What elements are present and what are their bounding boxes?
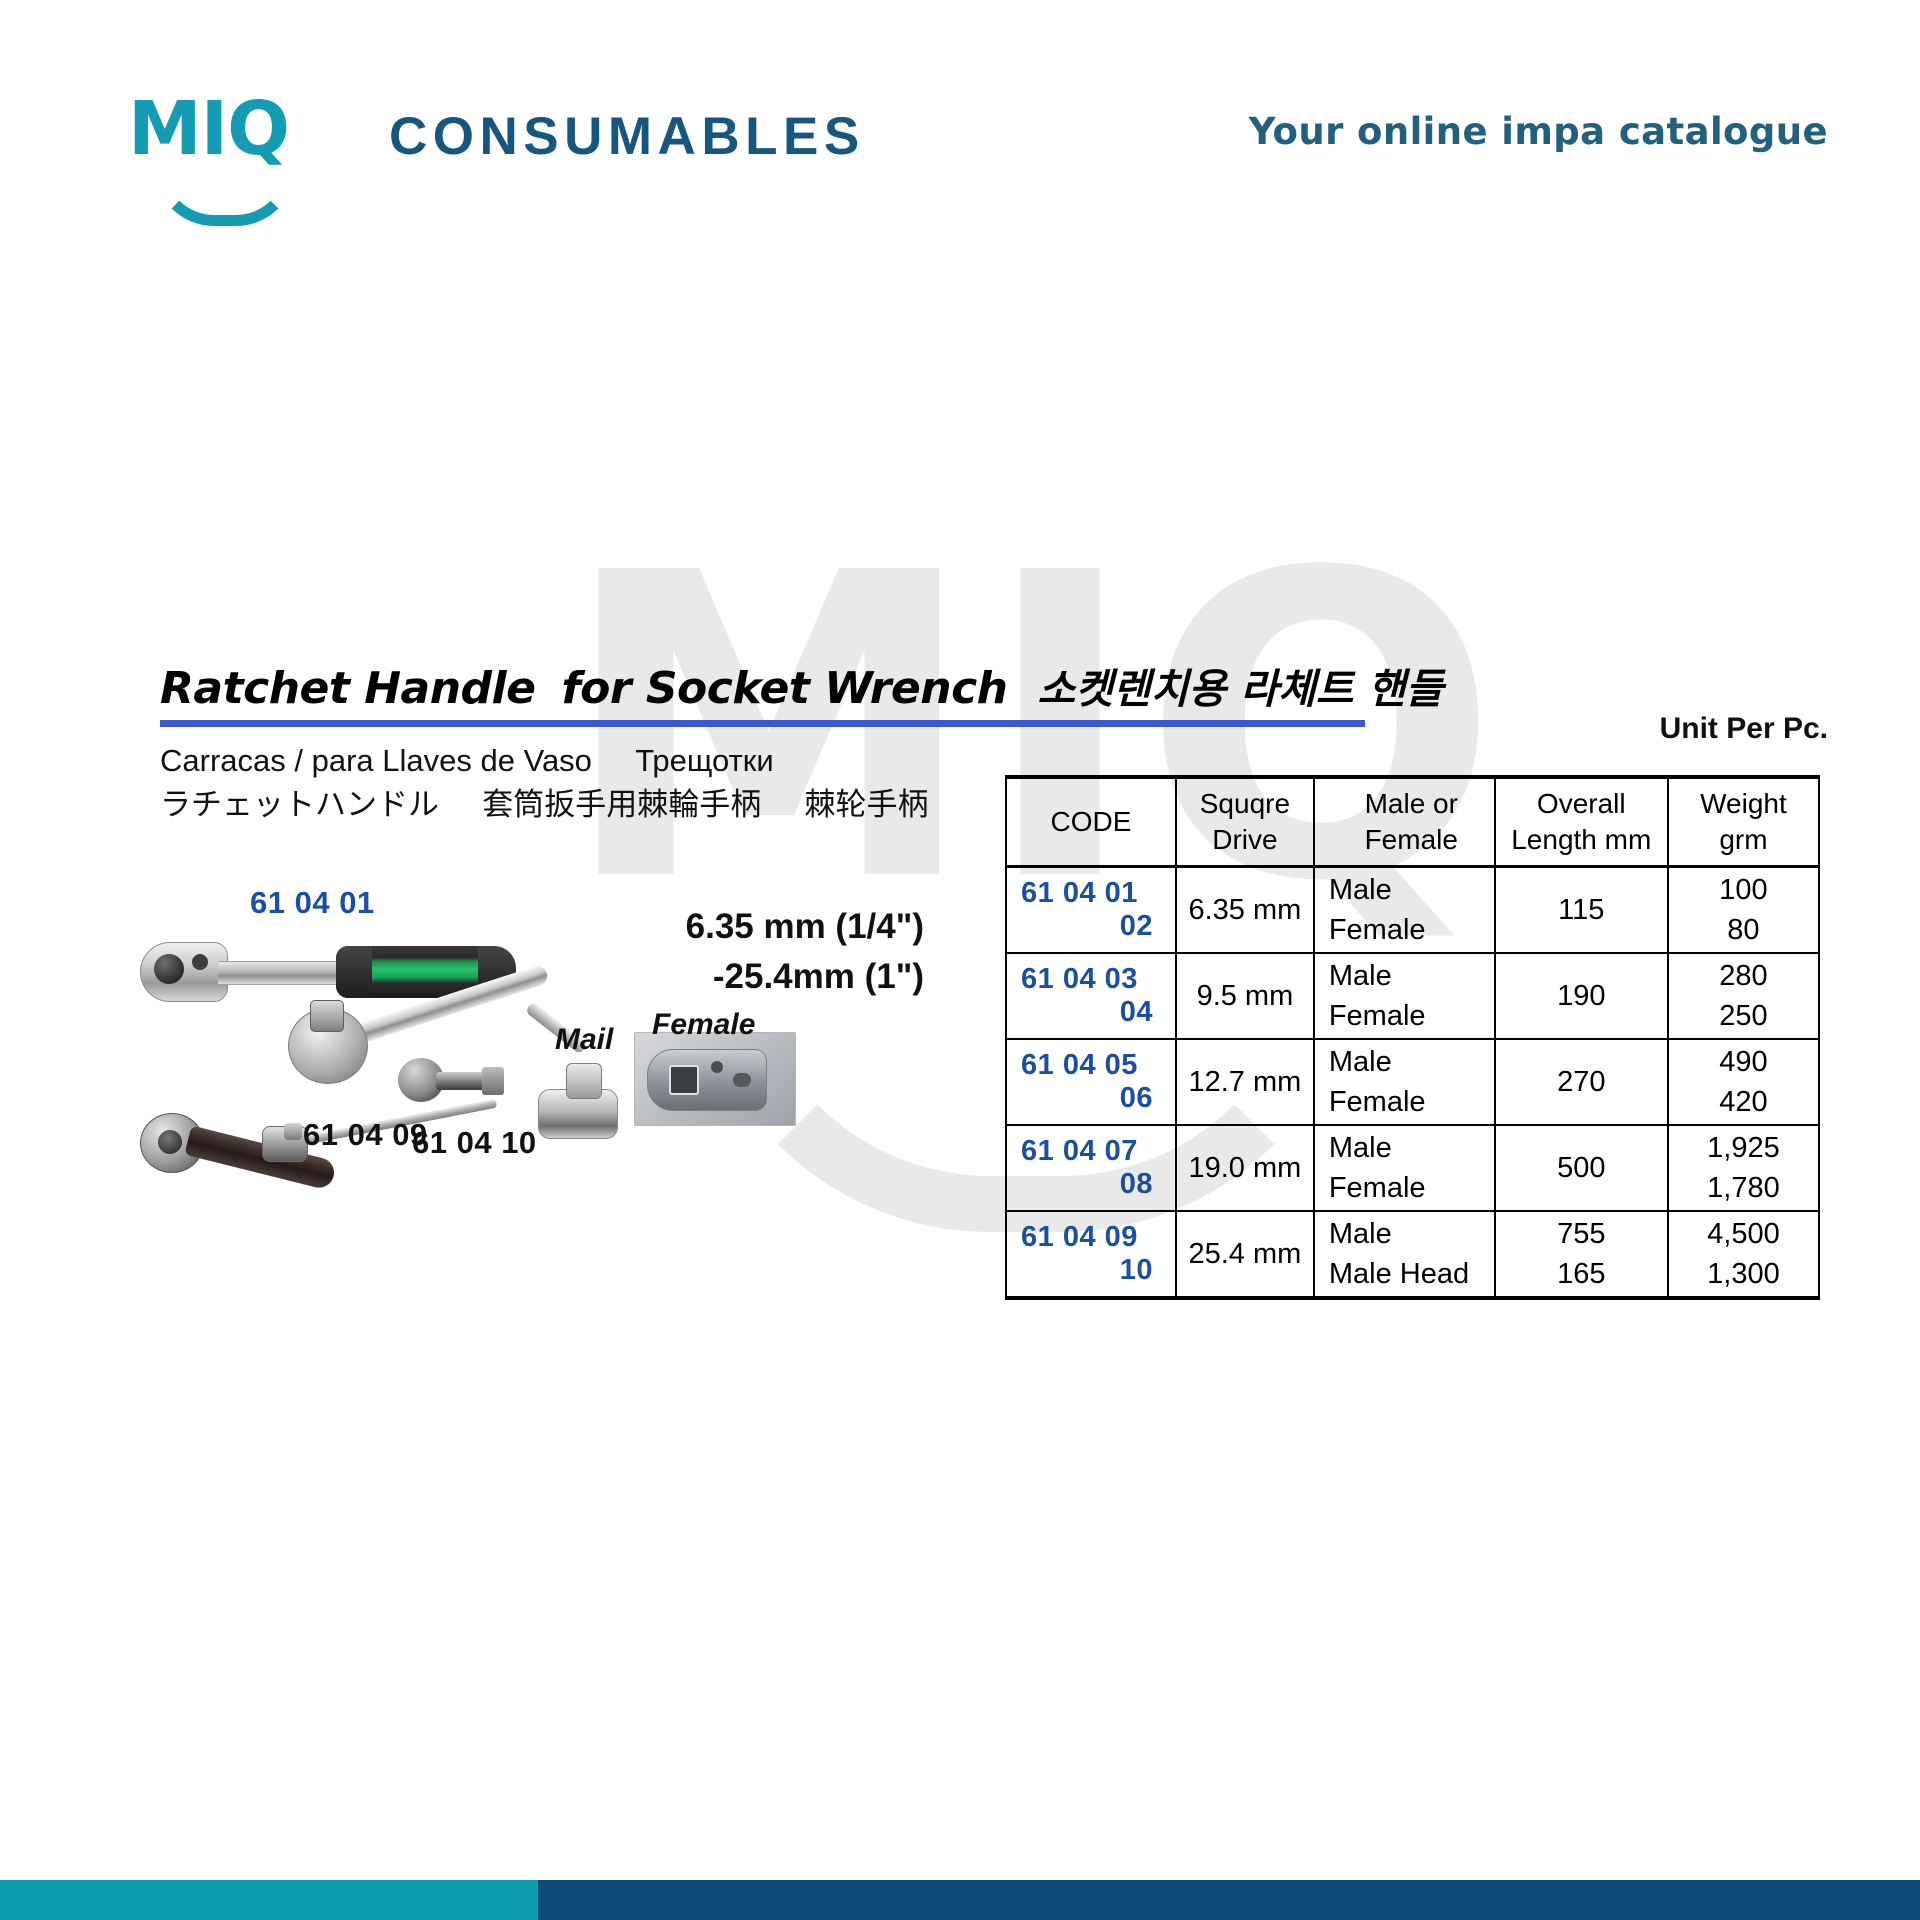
female-hole-1-shape: [711, 1061, 723, 1073]
cell-overall-length: 270: [1495, 1039, 1668, 1125]
cell-code-top: 61 04 03: [1007, 963, 1175, 996]
table-row: 61 04 05 06 12.7 mm Male Female 270: [1006, 1039, 1819, 1125]
male-square-drive-shape: [566, 1063, 602, 1099]
cell-weight-bottom: 1,780: [1669, 1168, 1818, 1208]
cell-male-or-female: Male Female: [1314, 1039, 1495, 1125]
cell-code-bottom: 10: [1007, 1254, 1175, 1287]
cell-code: 61 04 03 04: [1006, 953, 1176, 1039]
cell-overall-length: 500: [1495, 1125, 1668, 1211]
cell-square-drive: 19.0 mm: [1176, 1125, 1314, 1211]
cell-square-drive: 12.7 mm: [1176, 1039, 1314, 1125]
title-korean: 소켓렌치용 라체트 핸들: [1037, 655, 1443, 715]
female-hole-2-shape: [733, 1073, 751, 1087]
figure-label-female: Female: [652, 1008, 755, 1042]
cell-mf-bottom: Female: [1329, 996, 1494, 1036]
ratchet-shaft-shape: [218, 961, 346, 985]
cell-weight-bottom: 250: [1669, 996, 1818, 1036]
translation-chinese-simp: 棘轮手柄: [805, 787, 929, 822]
cell-mf-top: Male: [1329, 1128, 1494, 1168]
header-code: CODE: [1006, 777, 1176, 867]
title-english-secondary: for Socket Wrench: [561, 663, 1007, 714]
cell-mf-top: Male: [1329, 870, 1494, 910]
adapter-tip-shape: [482, 1067, 504, 1095]
header-square-drive: Squqre Drive: [1176, 777, 1314, 867]
header-square-drive-line1: Squqre: [1177, 786, 1313, 822]
figure-label-male: Mail: [555, 1023, 613, 1057]
joint-nub-shape: [284, 1123, 302, 1140]
cell-code-top: 61 04 07: [1007, 1135, 1175, 1168]
figure-code-610410: 61 04 10: [412, 1125, 537, 1161]
cell-male-or-female: Male Male Head: [1314, 1211, 1495, 1298]
cell-overall-length: 115: [1495, 867, 1668, 954]
cell-code: 61 04 09 10: [1006, 1211, 1176, 1298]
header-weight-line2: grm: [1669, 822, 1818, 858]
cell-square-drive: 25.4 mm: [1176, 1211, 1314, 1298]
cell-weight-top: 100: [1669, 870, 1818, 910]
cell-length-top: 500: [1496, 1148, 1667, 1188]
translation-chinese-trad: 套筒扳手用棘輪手柄: [482, 787, 761, 822]
specification-table: CODE Squqre Drive Male or Female Overall…: [1005, 775, 1820, 1300]
cell-weight-bottom: 80: [1669, 910, 1818, 950]
cell-code-bottom: 08: [1007, 1168, 1175, 1201]
cell-male-or-female: Male Female: [1314, 867, 1495, 954]
translation-russian: Трещотки: [635, 743, 773, 778]
cell-code: 61 04 01 02: [1006, 867, 1176, 954]
cell-code: 61 04 07 08: [1006, 1125, 1176, 1211]
translation-spanish: Carracas / para Llaves de Vaso: [160, 743, 592, 778]
cell-code-bottom: 02: [1007, 910, 1175, 943]
translation-japanese: ラチェットハンドル: [160, 787, 439, 822]
product-figure: 61 04 01 61 04 09 61 04 10 6.35 mm (1/4"…: [140, 840, 980, 1240]
page-content: Ratchet Handle for Socket Wrench 소켓렌치용 라…: [0, 0, 1920, 1920]
cell-weight-top: 4,500: [1669, 1214, 1818, 1254]
cell-code-bottom: 04: [1007, 996, 1175, 1029]
ratchet-lever-icon: [192, 954, 208, 970]
cell-length-top: 190: [1496, 976, 1667, 1016]
cell-weight: 4,500 1,300: [1668, 1211, 1819, 1298]
cell-length-top: 270: [1496, 1062, 1667, 1102]
cell-length-top: 115: [1496, 890, 1667, 930]
unit-per-piece-note: Unit Per Pc.: [1660, 712, 1828, 746]
header-length-line1: Overall: [1496, 786, 1667, 822]
table-row: 61 04 03 04 9.5 mm Male Female 190: [1006, 953, 1819, 1039]
cell-weight: 100 80: [1668, 867, 1819, 954]
cell-weight-top: 1,925: [1669, 1128, 1818, 1168]
cell-male-or-female: Male Female: [1314, 1125, 1495, 1211]
header-weight-line1: Weight: [1669, 786, 1818, 822]
ratchet-dial-icon: [154, 954, 184, 984]
square-drive-shape: [310, 1000, 344, 1032]
ratchet-head-shape: [140, 942, 228, 1002]
header-overall-length: Overall Length mm: [1495, 777, 1668, 867]
cell-weight-bottom: 1,300: [1669, 1254, 1818, 1294]
cell-code-top: 61 04 09: [1007, 1221, 1175, 1254]
cell-weight: 490 420: [1668, 1039, 1819, 1125]
cell-weight-top: 490: [1669, 1042, 1818, 1082]
male-head-adapter-illustration: [398, 1050, 518, 1120]
adapter-stem-shape: [436, 1072, 488, 1090]
spec-table-body: 61 04 01 02 6.35 mm Male Female 115: [1006, 867, 1819, 1299]
cell-weight: 280 250: [1668, 953, 1819, 1039]
cell-code-top: 61 04 01: [1007, 877, 1175, 910]
figure-size-range: 6.35 mm (1/4") -25.4mm (1"): [664, 902, 924, 1002]
small-ratchet-dial-icon: [158, 1130, 182, 1154]
header-weight: Weight grm: [1668, 777, 1819, 867]
cell-code-top: 61 04 05: [1007, 1049, 1175, 1082]
title-english-primary: Ratchet Handle: [160, 663, 535, 714]
spec-table-header-row: CODE Squqre Drive Male or Female Overall…: [1006, 777, 1819, 867]
figure-size-line-2: -25.4mm (1"): [664, 952, 924, 1002]
cell-mf-bottom: Female: [1329, 910, 1494, 950]
cell-mf-top: Male: [1329, 1042, 1494, 1082]
cell-code-bottom: 06: [1007, 1082, 1175, 1115]
cell-weight: 1,925 1,780: [1668, 1125, 1819, 1211]
header-mf-line1: Male or: [1329, 786, 1494, 822]
table-row: 61 04 01 02 6.35 mm Male Female 115: [1006, 867, 1819, 954]
cell-length-top: 755: [1496, 1214, 1667, 1254]
header-mf-line2: Female: [1329, 822, 1494, 858]
table-row: 61 04 07 08 19.0 mm Male Female 500: [1006, 1125, 1819, 1211]
cell-square-drive: 9.5 mm: [1176, 953, 1314, 1039]
cell-length-bottom: 165: [1496, 1254, 1667, 1294]
table-row: 61 04 09 10 25.4 mm Male Male Head 755 1…: [1006, 1211, 1819, 1298]
spec-table-head: CODE Squqre Drive Male or Female Overall…: [1006, 777, 1819, 867]
cell-overall-length: 755 165: [1495, 1211, 1668, 1298]
title-underline-rule: [160, 720, 1365, 727]
cell-mf-top: Male: [1329, 956, 1494, 996]
cell-square-drive: 6.35 mm: [1176, 867, 1314, 954]
cell-weight-bottom: 420: [1669, 1082, 1818, 1122]
cell-mf-bottom: Male Head: [1329, 1254, 1494, 1294]
cell-mf-top: Male: [1329, 1214, 1494, 1254]
cell-code: 61 04 05 06: [1006, 1039, 1176, 1125]
cell-overall-length: 190: [1495, 953, 1668, 1039]
cell-mf-bottom: Female: [1329, 1168, 1494, 1208]
figure-size-line-1: 6.35 mm (1/4"): [664, 902, 924, 952]
cell-male-or-female: Male Female: [1314, 953, 1495, 1039]
header-square-drive-line2: Drive: [1177, 822, 1313, 858]
header-length-line2: Length mm: [1496, 822, 1667, 858]
header-male-or-female: Male or Female: [1314, 777, 1495, 867]
cell-mf-bottom: Female: [1329, 1082, 1494, 1122]
figure-code-610401: 61 04 01: [250, 885, 375, 921]
female-square-hole-shape: [669, 1065, 699, 1095]
female-drive-photo: [634, 1032, 796, 1126]
title-line: Ratchet Handle for Socket Wrench 소켓렌치용 라…: [160, 655, 1420, 715]
cell-weight-top: 280: [1669, 956, 1818, 996]
figure-code-610409: 61 04 09: [303, 1117, 428, 1153]
